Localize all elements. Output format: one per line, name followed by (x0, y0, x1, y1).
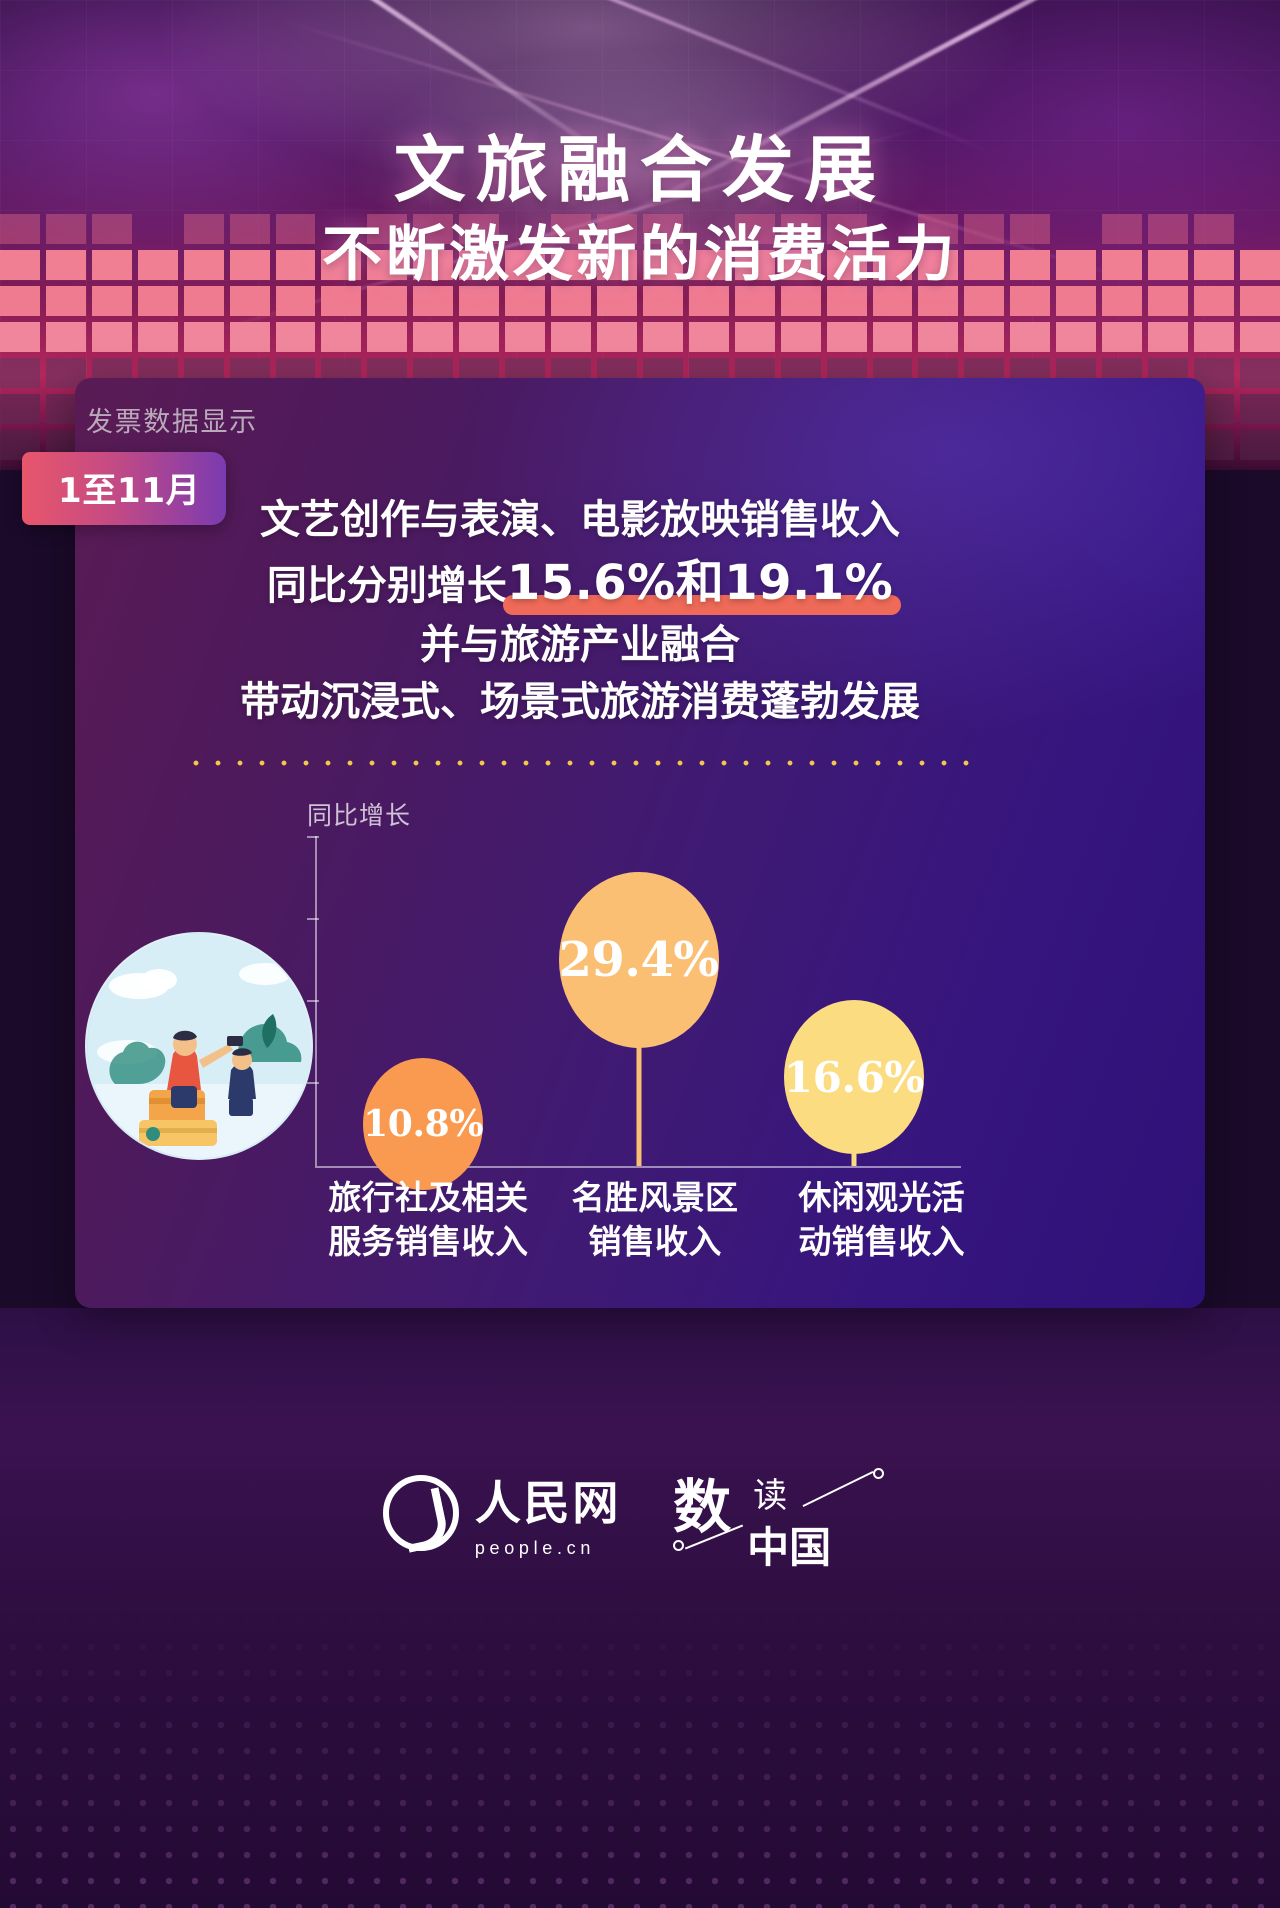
y-axis-tick (307, 1082, 319, 1084)
infographic-page: 文旅融合发展 不断激发新的消费活力 发票数据显示 1至11月 文艺创作与表演、电… (0, 0, 1280, 1908)
travel-selfie-illustration (85, 932, 313, 1160)
chart-x-labels: 旅行社及相关服务销售收入名胜风景区销售收入休闲观光活动销售收入 (315, 1176, 995, 1263)
peoples-daily-en: people.cn (475, 1538, 621, 1559)
chart-balloon: 10.8% (423, 1058, 424, 1166)
peoples-daily-mark-icon (383, 1475, 459, 1551)
growth-chart: 同比增长 (75, 780, 1205, 1300)
chart-x-label: 名胜风景区销售收入 (542, 1176, 769, 1263)
decor-dot-icon (673, 1540, 684, 1551)
chart-balloon: 29.4% (638, 872, 639, 1166)
footer-dot-pattern (0, 1608, 1280, 1908)
source-label: 发票数据显示 (86, 400, 258, 439)
page-title: 文旅融合发展 不断激发新的消费活力 (0, 132, 1280, 288)
chart-x-label: 旅行社及相关服务销售收入 (315, 1176, 542, 1263)
statement-line-2: 同比分别增长15.6%和19.1% (110, 549, 1050, 617)
chart-balloon: 16.6% (853, 1000, 854, 1166)
statement-line-1: 文艺创作与表演、电影放映销售收入 (110, 492, 1050, 549)
series-du: 读 (753, 1468, 787, 1517)
statement-line-2-prefix: 同比分别增长 (267, 563, 507, 609)
equalizer-row (0, 322, 1280, 352)
balloon-value-label: 10.8% (363, 1058, 483, 1190)
chart-x-label: 休闲观光活动销售收入 (768, 1176, 995, 1263)
chart-x-label-line: 动销售收入 (768, 1220, 995, 1264)
title-line-1: 文旅融合发展 (0, 132, 1280, 208)
brand-row: 人民网 people.cn 数 读 中国 (0, 1458, 1280, 1568)
balloon-value-label: 16.6% (784, 1000, 924, 1154)
footer: 人民网 people.cn 数 读 中国 (0, 1308, 1280, 1908)
balloon-value-label: 29.4% (559, 872, 719, 1048)
chart-x-label-line: 销售收入 (542, 1220, 769, 1264)
statement-highlight-value: 15.6%和19.1% (507, 555, 893, 611)
peoples-daily-cn: 人民网 (475, 1467, 621, 1533)
decor-line (803, 1471, 874, 1507)
chart-x-label-line: 名胜风景区 (542, 1176, 769, 1220)
highlight-wrap: 15.6%和19.1% (507, 549, 893, 617)
peoples-daily-text: 人民网 people.cn (475, 1467, 621, 1559)
title-line-2: 不断激发新的消费活力 (0, 224, 1280, 288)
decor-dot-icon (873, 1468, 884, 1479)
chart-y-axis-label: 同比增长 (307, 796, 411, 832)
chart-x-label-line: 休闲观光活 (768, 1176, 995, 1220)
statement-line-4: 带动沉浸式、场景式旅游消费蓬勃发展 (110, 674, 1050, 731)
series-zhongguo: 中国 (747, 1514, 831, 1575)
statement-line-3: 并与旅游产业融合 (110, 617, 1050, 674)
y-axis-tick (307, 836, 319, 838)
dotted-divider (185, 760, 985, 766)
chart-x-label-line: 旅行社及相关 (315, 1176, 542, 1220)
period-badge: 1至11月 (22, 452, 226, 525)
y-axis-tick (307, 918, 319, 920)
shudu-zhongguo-logo: 数 读 中国 (667, 1458, 897, 1568)
y-axis-tick (307, 1000, 319, 1002)
chart-x-label-line: 服务销售收入 (315, 1220, 542, 1264)
peoples-daily-logo: 人民网 people.cn (383, 1467, 621, 1559)
equalizer-row (0, 286, 1280, 316)
statement-block: 文艺创作与表演、电影放映销售收入 同比分别增长15.6%和19.1% 并与旅游产… (110, 492, 1050, 731)
